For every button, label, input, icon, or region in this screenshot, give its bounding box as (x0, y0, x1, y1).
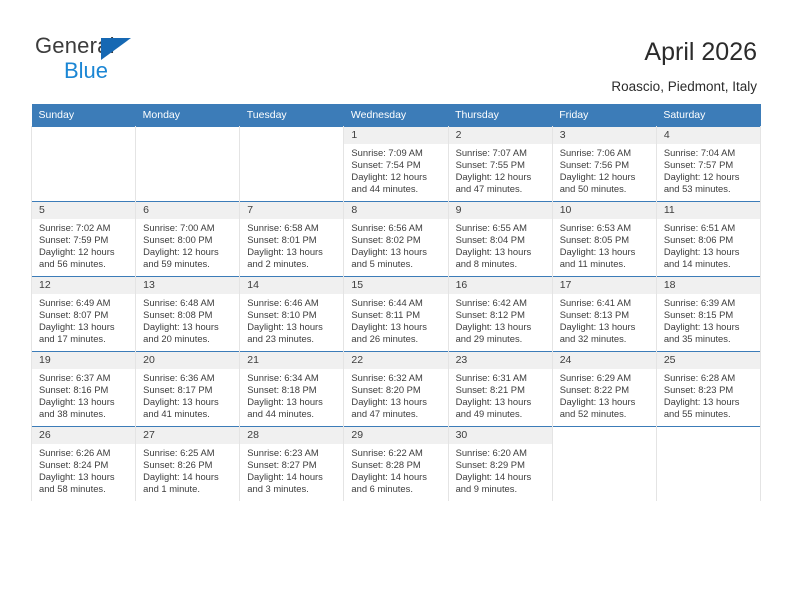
sunrise-time: Sunrise: 7:02 AM (39, 222, 130, 234)
sunrise-time: Sunrise: 6:42 AM (456, 297, 547, 309)
sunrise-time: Sunrise: 6:41 AM (560, 297, 651, 309)
daylight-duration-line2: and 38 minutes. (39, 408, 130, 420)
logo-triangle-icon (101, 38, 131, 60)
daylight-duration-line1: Daylight: 14 hours (351, 471, 442, 483)
sunrise-time: Sunrise: 6:22 AM (351, 447, 442, 459)
daylight-duration-line1: Daylight: 12 hours (664, 171, 755, 183)
sunset-time: Sunset: 8:13 PM (560, 309, 651, 321)
daylight-duration-line1: Daylight: 14 hours (247, 471, 338, 483)
day-sun-details: Sunrise: 6:29 AMSunset: 8:22 PMDaylight:… (553, 369, 656, 420)
day-sun-details: Sunrise: 6:32 AMSunset: 8:20 PMDaylight:… (344, 369, 447, 420)
sunrise-time: Sunrise: 6:25 AM (143, 447, 234, 459)
weekday-header-saturday: Saturday (656, 104, 760, 127)
daylight-duration-line1: Daylight: 13 hours (664, 321, 755, 333)
calendar-cell-inner: 18Sunrise: 6:39 AMSunset: 8:15 PMDayligh… (657, 277, 760, 351)
calendar-day-cell[interactable]: 15Sunrise: 6:44 AMSunset: 8:11 PMDayligh… (344, 277, 448, 352)
daylight-duration-line1: Daylight: 12 hours (143, 246, 234, 258)
calendar-day-cell[interactable]: 2Sunrise: 7:07 AMSunset: 7:55 PMDaylight… (448, 127, 552, 202)
calendar-cell-inner: 24Sunrise: 6:29 AMSunset: 8:22 PMDayligh… (553, 352, 656, 426)
daylight-duration-line1: Daylight: 13 hours (247, 246, 338, 258)
day-sun-details: Sunrise: 6:23 AMSunset: 8:27 PMDaylight:… (240, 444, 343, 495)
daylight-duration-line1: Daylight: 14 hours (143, 471, 234, 483)
calendar-day-cell[interactable]: 16Sunrise: 6:42 AMSunset: 8:12 PMDayligh… (448, 277, 552, 352)
day-number: 27 (136, 427, 239, 444)
day-sun-details: Sunrise: 6:49 AMSunset: 8:07 PMDaylight:… (32, 294, 135, 345)
calendar-cell-inner (657, 427, 760, 501)
calendar-day-cell[interactable]: 12Sunrise: 6:49 AMSunset: 8:07 PMDayligh… (32, 277, 136, 352)
calendar-day-cell[interactable]: 1Sunrise: 7:09 AMSunset: 7:54 PMDaylight… (344, 127, 448, 202)
sunrise-time: Sunrise: 6:32 AM (351, 372, 442, 384)
daylight-duration-line2: and 55 minutes. (664, 408, 755, 420)
calendar-cell-inner: 26Sunrise: 6:26 AMSunset: 8:24 PMDayligh… (32, 427, 135, 501)
daylight-duration-line2: and 1 minute. (143, 483, 234, 495)
day-number: 6 (136, 202, 239, 219)
daylight-duration-line2: and 50 minutes. (560, 183, 651, 195)
calendar-cell-inner: 1Sunrise: 7:09 AMSunset: 7:54 PMDaylight… (344, 127, 447, 201)
sunrise-time: Sunrise: 7:07 AM (456, 147, 547, 159)
calendar-cell-inner: 3Sunrise: 7:06 AMSunset: 7:56 PMDaylight… (553, 127, 656, 201)
sunrise-time: Sunrise: 6:20 AM (456, 447, 547, 459)
generalblue-logo[interactable]: General Blue (35, 33, 235, 88)
calendar-cell-empty (552, 427, 656, 502)
sunrise-time: Sunrise: 6:51 AM (664, 222, 755, 234)
sunset-time: Sunset: 7:54 PM (351, 159, 442, 171)
sunset-time: Sunset: 8:24 PM (39, 459, 130, 471)
daylight-duration-line1: Daylight: 12 hours (560, 171, 651, 183)
day-number (240, 127, 343, 144)
daylight-duration-line2: and 35 minutes. (664, 333, 755, 345)
day-sun-details: Sunrise: 6:31 AMSunset: 8:21 PMDaylight:… (449, 369, 552, 420)
calendar-week-row: 19Sunrise: 6:37 AMSunset: 8:16 PMDayligh… (32, 352, 761, 427)
sunrise-time: Sunrise: 6:46 AM (247, 297, 338, 309)
daylight-duration-line1: Daylight: 13 hours (456, 396, 547, 408)
day-number: 18 (657, 277, 760, 294)
calendar-page: General Blue April 2026 Roascio, Piedmon… (0, 0, 792, 612)
calendar-day-cell[interactable]: 22Sunrise: 6:32 AMSunset: 8:20 PMDayligh… (344, 352, 448, 427)
day-number: 7 (240, 202, 343, 219)
calendar-cell-empty (136, 127, 240, 202)
calendar-day-cell[interactable]: 14Sunrise: 6:46 AMSunset: 8:10 PMDayligh… (240, 277, 344, 352)
calendar-week-row: 26Sunrise: 6:26 AMSunset: 8:24 PMDayligh… (32, 427, 761, 502)
calendar-cell-inner: 11Sunrise: 6:51 AMSunset: 8:06 PMDayligh… (657, 202, 760, 276)
sunrise-time: Sunrise: 7:06 AM (560, 147, 651, 159)
sunset-time: Sunset: 8:05 PM (560, 234, 651, 246)
calendar-day-cell[interactable]: 10Sunrise: 6:53 AMSunset: 8:05 PMDayligh… (552, 202, 656, 277)
day-number: 9 (449, 202, 552, 219)
daylight-duration-line2: and 47 minutes. (456, 183, 547, 195)
weekday-header-thursday: Thursday (448, 104, 552, 127)
day-sun-details: Sunrise: 7:04 AMSunset: 7:57 PMDaylight:… (657, 144, 760, 195)
day-sun-details: Sunrise: 6:55 AMSunset: 8:04 PMDaylight:… (449, 219, 552, 270)
sunrise-time: Sunrise: 6:39 AM (664, 297, 755, 309)
day-sun-details: Sunrise: 6:34 AMSunset: 8:18 PMDaylight:… (240, 369, 343, 420)
calendar-day-cell[interactable]: 6Sunrise: 7:00 AMSunset: 8:00 PMDaylight… (136, 202, 240, 277)
sunset-time: Sunset: 8:22 PM (560, 384, 651, 396)
page-title: April 2026 (644, 38, 757, 66)
calendar-cell-inner: 23Sunrise: 6:31 AMSunset: 8:21 PMDayligh… (449, 352, 552, 426)
day-sun-details: Sunrise: 6:26 AMSunset: 8:24 PMDaylight:… (32, 444, 135, 495)
day-number: 16 (449, 277, 552, 294)
weekday-header-row: Sunday Monday Tuesday Wednesday Thursday… (32, 104, 761, 127)
day-sun-details: Sunrise: 6:22 AMSunset: 8:28 PMDaylight:… (344, 444, 447, 495)
day-sun-details: Sunrise: 6:58 AMSunset: 8:01 PMDaylight:… (240, 219, 343, 270)
day-number: 20 (136, 352, 239, 369)
day-number (657, 427, 760, 444)
sunset-time: Sunset: 8:21 PM (456, 384, 547, 396)
daylight-duration-line2: and 47 minutes. (351, 408, 442, 420)
day-number: 28 (240, 427, 343, 444)
calendar-cell-empty (240, 127, 344, 202)
calendar-cell-inner (553, 427, 656, 501)
calendar-cell-inner: 15Sunrise: 6:44 AMSunset: 8:11 PMDayligh… (344, 277, 447, 351)
daylight-duration-line1: Daylight: 13 hours (39, 471, 130, 483)
sunrise-time: Sunrise: 6:37 AM (39, 372, 130, 384)
sunrise-time: Sunrise: 6:26 AM (39, 447, 130, 459)
daylight-duration-line1: Daylight: 13 hours (39, 321, 130, 333)
calendar-day-cell[interactable]: 5Sunrise: 7:02 AMSunset: 7:59 PMDaylight… (32, 202, 136, 277)
sunset-time: Sunset: 8:10 PM (247, 309, 338, 321)
calendar-cell-inner: 9Sunrise: 6:55 AMSunset: 8:04 PMDaylight… (449, 202, 552, 276)
calendar-cell-inner: 25Sunrise: 6:28 AMSunset: 8:23 PMDayligh… (657, 352, 760, 426)
sunset-time: Sunset: 8:28 PM (351, 459, 442, 471)
sunrise-time: Sunrise: 7:00 AM (143, 222, 234, 234)
calendar-day-cell[interactable]: 13Sunrise: 6:48 AMSunset: 8:08 PMDayligh… (136, 277, 240, 352)
day-number: 3 (553, 127, 656, 144)
calendar-day-cell[interactable]: 26Sunrise: 6:26 AMSunset: 8:24 PMDayligh… (32, 427, 136, 502)
day-number: 12 (32, 277, 135, 294)
calendar-day-cell[interactable]: 24Sunrise: 6:29 AMSunset: 8:22 PMDayligh… (552, 352, 656, 427)
calendar-day-cell[interactable]: 20Sunrise: 6:36 AMSunset: 8:17 PMDayligh… (136, 352, 240, 427)
day-number: 17 (553, 277, 656, 294)
sunrise-time: Sunrise: 6:28 AM (664, 372, 755, 384)
daylight-duration-line1: Daylight: 14 hours (456, 471, 547, 483)
day-number: 4 (657, 127, 760, 144)
calendar-cell-inner: 16Sunrise: 6:42 AMSunset: 8:12 PMDayligh… (449, 277, 552, 351)
day-number: 19 (32, 352, 135, 369)
weekday-header-friday: Friday (552, 104, 656, 127)
day-number: 24 (553, 352, 656, 369)
sunset-time: Sunset: 8:04 PM (456, 234, 547, 246)
calendar-cell-empty (656, 427, 760, 502)
weekday-header-monday: Monday (136, 104, 240, 127)
calendar-day-cell[interactable]: 30Sunrise: 6:20 AMSunset: 8:29 PMDayligh… (448, 427, 552, 502)
day-sun-details: Sunrise: 6:36 AMSunset: 8:17 PMDaylight:… (136, 369, 239, 420)
sunset-time: Sunset: 8:06 PM (664, 234, 755, 246)
calendar-cell-inner: 14Sunrise: 6:46 AMSunset: 8:10 PMDayligh… (240, 277, 343, 351)
sunset-time: Sunset: 8:17 PM (143, 384, 234, 396)
calendar-cell-inner: 12Sunrise: 6:49 AMSunset: 8:07 PMDayligh… (32, 277, 135, 351)
daylight-duration-line1: Daylight: 13 hours (247, 321, 338, 333)
daylight-duration-line2: and 11 minutes. (560, 258, 651, 270)
calendar-day-cell[interactable]: 28Sunrise: 6:23 AMSunset: 8:27 PMDayligh… (240, 427, 344, 502)
day-number: 15 (344, 277, 447, 294)
weekday-header-wednesday: Wednesday (344, 104, 448, 127)
day-number: 13 (136, 277, 239, 294)
daylight-duration-line1: Daylight: 13 hours (560, 396, 651, 408)
day-sun-details: Sunrise: 6:44 AMSunset: 8:11 PMDaylight:… (344, 294, 447, 345)
daylight-duration-line1: Daylight: 13 hours (351, 321, 442, 333)
calendar-week-row: 1Sunrise: 7:09 AMSunset: 7:54 PMDaylight… (32, 127, 761, 202)
day-sun-details: Sunrise: 6:42 AMSunset: 8:12 PMDaylight:… (449, 294, 552, 345)
day-number (32, 127, 135, 144)
sunset-time: Sunset: 8:15 PM (664, 309, 755, 321)
daylight-duration-line1: Daylight: 13 hours (664, 396, 755, 408)
sunset-time: Sunset: 7:55 PM (456, 159, 547, 171)
calendar-cell-inner: 6Sunrise: 7:00 AMSunset: 8:00 PMDaylight… (136, 202, 239, 276)
sunrise-time: Sunrise: 6:36 AM (143, 372, 234, 384)
daylight-duration-line1: Daylight: 12 hours (39, 246, 130, 258)
daylight-duration-line2: and 17 minutes. (39, 333, 130, 345)
calendar-day-cell[interactable]: 17Sunrise: 6:41 AMSunset: 8:13 PMDayligh… (552, 277, 656, 352)
calendar-cell-inner: 27Sunrise: 6:25 AMSunset: 8:26 PMDayligh… (136, 427, 239, 501)
daylight-duration-line2: and 9 minutes. (456, 483, 547, 495)
day-sun-details: Sunrise: 6:41 AMSunset: 8:13 PMDaylight:… (553, 294, 656, 345)
day-sun-details: Sunrise: 6:39 AMSunset: 8:15 PMDaylight:… (657, 294, 760, 345)
calendar-week-row: 12Sunrise: 6:49 AMSunset: 8:07 PMDayligh… (32, 277, 761, 352)
day-number: 2 (449, 127, 552, 144)
sunset-time: Sunset: 7:57 PM (664, 159, 755, 171)
daylight-duration-line1: Daylight: 13 hours (456, 246, 547, 258)
calendar-cell-inner: 7Sunrise: 6:58 AMSunset: 8:01 PMDaylight… (240, 202, 343, 276)
day-number: 5 (32, 202, 135, 219)
day-number: 10 (553, 202, 656, 219)
day-sun-details: Sunrise: 7:02 AMSunset: 7:59 PMDaylight:… (32, 219, 135, 270)
sunrise-time: Sunrise: 6:44 AM (351, 297, 442, 309)
daylight-duration-line1: Daylight: 13 hours (456, 321, 547, 333)
daylight-duration-line1: Daylight: 13 hours (664, 246, 755, 258)
daylight-duration-line2: and 41 minutes. (143, 408, 234, 420)
daylight-duration-line2: and 6 minutes. (351, 483, 442, 495)
calendar-day-cell[interactable]: 7Sunrise: 6:58 AMSunset: 8:01 PMDaylight… (240, 202, 344, 277)
sunset-time: Sunset: 8:07 PM (39, 309, 130, 321)
day-number: 11 (657, 202, 760, 219)
sunrise-time: Sunrise: 6:34 AM (247, 372, 338, 384)
calendar-cell-inner: 22Sunrise: 6:32 AMSunset: 8:20 PMDayligh… (344, 352, 447, 426)
sunset-time: Sunset: 7:59 PM (39, 234, 130, 246)
daylight-duration-line1: Daylight: 13 hours (351, 246, 442, 258)
daylight-duration-line2: and 23 minutes. (247, 333, 338, 345)
day-number: 29 (344, 427, 447, 444)
sunset-time: Sunset: 8:26 PM (143, 459, 234, 471)
daylight-duration-line2: and 56 minutes. (39, 258, 130, 270)
daylight-duration-line1: Daylight: 12 hours (351, 171, 442, 183)
day-number: 26 (32, 427, 135, 444)
sunrise-time: Sunrise: 6:29 AM (560, 372, 651, 384)
daylight-duration-line2: and 52 minutes. (560, 408, 651, 420)
daylight-duration-line1: Daylight: 13 hours (143, 321, 234, 333)
daylight-duration-line2: and 5 minutes. (351, 258, 442, 270)
day-number (136, 127, 239, 144)
sunrise-time: Sunrise: 6:58 AM (247, 222, 338, 234)
sunset-time: Sunset: 8:01 PM (247, 234, 338, 246)
day-sun-details: Sunrise: 6:46 AMSunset: 8:10 PMDaylight:… (240, 294, 343, 345)
day-sun-details: Sunrise: 6:20 AMSunset: 8:29 PMDaylight:… (449, 444, 552, 495)
sunrise-time: Sunrise: 6:56 AM (351, 222, 442, 234)
sunrise-time: Sunrise: 7:04 AM (664, 147, 755, 159)
page-subtitle-location: Roascio, Piedmont, Italy (611, 79, 757, 95)
calendar-cell-inner: 2Sunrise: 7:07 AMSunset: 7:55 PMDaylight… (449, 127, 552, 201)
sunset-time: Sunset: 8:20 PM (351, 384, 442, 396)
calendar-cell-inner: 20Sunrise: 6:36 AMSunset: 8:17 PMDayligh… (136, 352, 239, 426)
day-number: 8 (344, 202, 447, 219)
sunrise-time: Sunrise: 6:23 AM (247, 447, 338, 459)
daylight-duration-line2: and 59 minutes. (143, 258, 234, 270)
calendar-cell-inner (32, 127, 135, 201)
daylight-duration-line1: Daylight: 12 hours (456, 171, 547, 183)
calendar-cell-inner (240, 127, 343, 201)
sunset-time: Sunset: 8:16 PM (39, 384, 130, 396)
sunset-time: Sunset: 8:02 PM (351, 234, 442, 246)
calendar-cell-inner: 29Sunrise: 6:22 AMSunset: 8:28 PMDayligh… (344, 427, 447, 501)
day-number: 25 (657, 352, 760, 369)
calendar-cell-inner: 19Sunrise: 6:37 AMSunset: 8:16 PMDayligh… (32, 352, 135, 426)
sunrise-time: Sunrise: 6:48 AM (143, 297, 234, 309)
sunset-time: Sunset: 8:11 PM (351, 309, 442, 321)
day-sun-details: Sunrise: 6:28 AMSunset: 8:23 PMDaylight:… (657, 369, 760, 420)
daylight-duration-line2: and 8 minutes. (456, 258, 547, 270)
day-sun-details: Sunrise: 6:37 AMSunset: 8:16 PMDaylight:… (32, 369, 135, 420)
day-sun-details: Sunrise: 7:06 AMSunset: 7:56 PMDaylight:… (553, 144, 656, 195)
daylight-duration-line2: and 53 minutes. (664, 183, 755, 195)
calendar-week-row: 5Sunrise: 7:02 AMSunset: 7:59 PMDaylight… (32, 202, 761, 277)
day-sun-details: Sunrise: 7:00 AMSunset: 8:00 PMDaylight:… (136, 219, 239, 270)
sunrise-time: Sunrise: 6:31 AM (456, 372, 547, 384)
weekday-header-sunday: Sunday (32, 104, 136, 127)
day-sun-details: Sunrise: 6:53 AMSunset: 8:05 PMDaylight:… (553, 219, 656, 270)
calendar-cell-empty (32, 127, 136, 202)
daylight-duration-line1: Daylight: 13 hours (39, 396, 130, 408)
day-sun-details: Sunrise: 7:07 AMSunset: 7:55 PMDaylight:… (449, 144, 552, 195)
sunset-time: Sunset: 7:56 PM (560, 159, 651, 171)
calendar-cell-inner: 8Sunrise: 6:56 AMSunset: 8:02 PMDaylight… (344, 202, 447, 276)
daylight-duration-line2: and 44 minutes. (247, 408, 338, 420)
daylight-duration-line2: and 14 minutes. (664, 258, 755, 270)
calendar-day-cell[interactable]: 3Sunrise: 7:06 AMSunset: 7:56 PMDaylight… (552, 127, 656, 202)
calendar-day-cell[interactable]: 23Sunrise: 6:31 AMSunset: 8:21 PMDayligh… (448, 352, 552, 427)
calendar-cell-inner: 21Sunrise: 6:34 AMSunset: 8:18 PMDayligh… (240, 352, 343, 426)
day-number: 21 (240, 352, 343, 369)
calendar-day-cell[interactable]: 29Sunrise: 6:22 AMSunset: 8:28 PMDayligh… (344, 427, 448, 502)
calendar-cell-inner: 4Sunrise: 7:04 AMSunset: 7:57 PMDaylight… (657, 127, 760, 201)
calendar-cell-inner: 17Sunrise: 6:41 AMSunset: 8:13 PMDayligh… (553, 277, 656, 351)
calendar-cell-inner: 13Sunrise: 6:48 AMSunset: 8:08 PMDayligh… (136, 277, 239, 351)
daylight-duration-line2: and 32 minutes. (560, 333, 651, 345)
daylight-duration-line1: Daylight: 13 hours (560, 246, 651, 258)
sunset-time: Sunset: 8:12 PM (456, 309, 547, 321)
daylight-duration-line2: and 44 minutes. (351, 183, 442, 195)
day-sun-details: Sunrise: 6:56 AMSunset: 8:02 PMDaylight:… (344, 219, 447, 270)
calendar-day-cell[interactable]: 11Sunrise: 6:51 AMSunset: 8:06 PMDayligh… (656, 202, 760, 277)
calendar-cell-inner: 5Sunrise: 7:02 AMSunset: 7:59 PMDaylight… (32, 202, 135, 276)
calendar-day-cell[interactable]: 9Sunrise: 6:55 AMSunset: 8:04 PMDaylight… (448, 202, 552, 277)
daylight-duration-line2: and 29 minutes. (456, 333, 547, 345)
day-number: 22 (344, 352, 447, 369)
weekday-header-tuesday: Tuesday (240, 104, 344, 127)
daylight-duration-line2: and 3 minutes. (247, 483, 338, 495)
daylight-duration-line1: Daylight: 13 hours (143, 396, 234, 408)
page-header: General Blue April 2026 Roascio, Piedmon… (0, 0, 792, 100)
day-number (553, 427, 656, 444)
calendar-day-cell[interactable]: 27Sunrise: 6:25 AMSunset: 8:26 PMDayligh… (136, 427, 240, 502)
sunrise-sunset-calendar: Sunday Monday Tuesday Wednesday Thursday… (31, 104, 761, 501)
day-sun-details: Sunrise: 7:09 AMSunset: 7:54 PMDaylight:… (344, 144, 447, 195)
logo-text-blue: Blue (64, 58, 108, 83)
calendar-body: 1Sunrise: 7:09 AMSunset: 7:54 PMDaylight… (32, 127, 761, 502)
sunrise-time: Sunrise: 7:09 AM (351, 147, 442, 159)
sunset-time: Sunset: 8:23 PM (664, 384, 755, 396)
calendar-day-cell[interactable]: 19Sunrise: 6:37 AMSunset: 8:16 PMDayligh… (32, 352, 136, 427)
calendar-day-cell[interactable]: 25Sunrise: 6:28 AMSunset: 8:23 PMDayligh… (656, 352, 760, 427)
day-number: 1 (344, 127, 447, 144)
daylight-duration-line1: Daylight: 13 hours (247, 396, 338, 408)
daylight-duration-line2: and 26 minutes. (351, 333, 442, 345)
daylight-duration-line2: and 58 minutes. (39, 483, 130, 495)
sunset-time: Sunset: 8:08 PM (143, 309, 234, 321)
sunset-time: Sunset: 8:29 PM (456, 459, 547, 471)
calendar-cell-inner: 30Sunrise: 6:20 AMSunset: 8:29 PMDayligh… (449, 427, 552, 501)
day-number: 30 (449, 427, 552, 444)
daylight-duration-line2: and 49 minutes. (456, 408, 547, 420)
daylight-duration-line2: and 20 minutes. (143, 333, 234, 345)
sunrise-time: Sunrise: 6:55 AM (456, 222, 547, 234)
calendar-day-cell[interactable]: 4Sunrise: 7:04 AMSunset: 7:57 PMDaylight… (656, 127, 760, 202)
calendar-day-cell[interactable]: 21Sunrise: 6:34 AMSunset: 8:18 PMDayligh… (240, 352, 344, 427)
day-sun-details: Sunrise: 6:51 AMSunset: 8:06 PMDaylight:… (657, 219, 760, 270)
daylight-duration-line1: Daylight: 13 hours (560, 321, 651, 333)
day-sun-details: Sunrise: 6:48 AMSunset: 8:08 PMDaylight:… (136, 294, 239, 345)
calendar-cell-inner: 10Sunrise: 6:53 AMSunset: 8:05 PMDayligh… (553, 202, 656, 276)
day-number: 23 (449, 352, 552, 369)
calendar-cell-inner: 28Sunrise: 6:23 AMSunset: 8:27 PMDayligh… (240, 427, 343, 501)
calendar-day-cell[interactable]: 8Sunrise: 6:56 AMSunset: 8:02 PMDaylight… (344, 202, 448, 277)
sunset-time: Sunset: 8:00 PM (143, 234, 234, 246)
calendar-day-cell[interactable]: 18Sunrise: 6:39 AMSunset: 8:15 PMDayligh… (656, 277, 760, 352)
daylight-duration-line1: Daylight: 13 hours (351, 396, 442, 408)
sunset-time: Sunset: 8:18 PM (247, 384, 338, 396)
calendar-cell-inner (136, 127, 239, 201)
day-number: 14 (240, 277, 343, 294)
sunrise-time: Sunrise: 6:53 AM (560, 222, 651, 234)
sunrise-time: Sunrise: 6:49 AM (39, 297, 130, 309)
sunset-time: Sunset: 8:27 PM (247, 459, 338, 471)
daylight-duration-line2: and 2 minutes. (247, 258, 338, 270)
day-sun-details: Sunrise: 6:25 AMSunset: 8:26 PMDaylight:… (136, 444, 239, 495)
